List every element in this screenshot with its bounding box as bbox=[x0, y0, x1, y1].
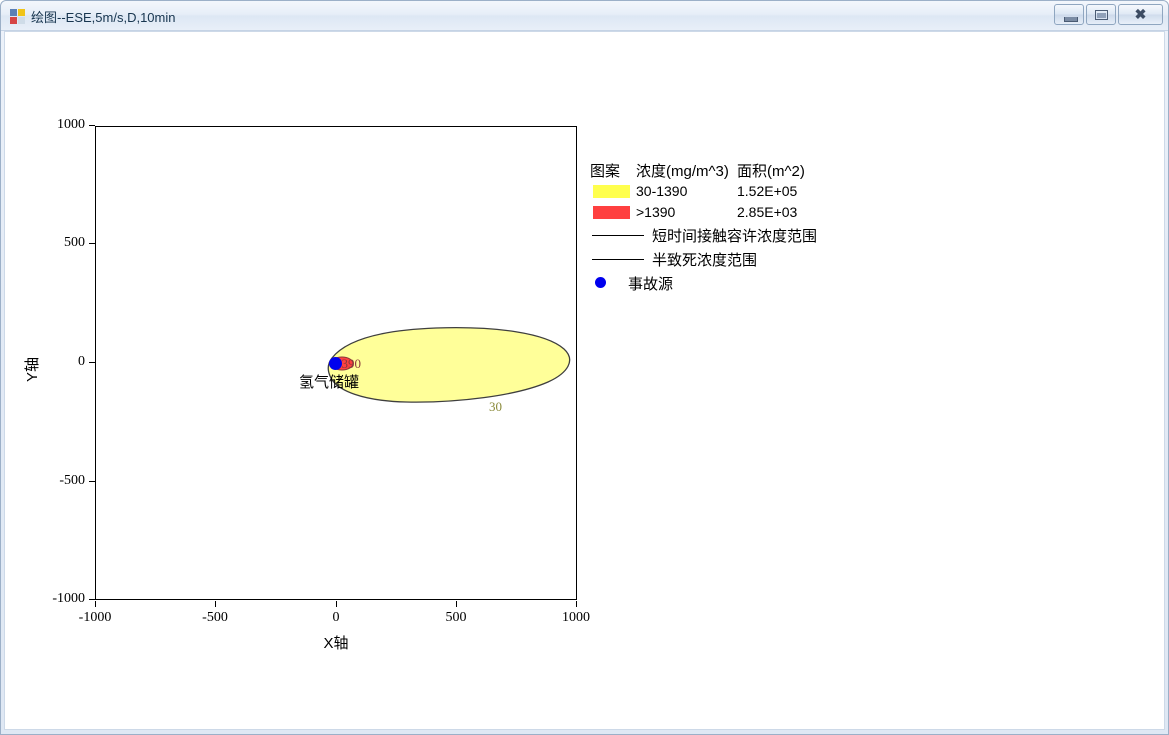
plot-frame: 1390 30 氢气储罐 bbox=[95, 126, 577, 600]
minimize-button[interactable] bbox=[1054, 4, 1084, 25]
x-tick-label-1000: 1000 bbox=[536, 610, 616, 626]
contour-label-30: 30 bbox=[489, 399, 502, 415]
close-icon: ✖ bbox=[1119, 5, 1162, 24]
window-controls: ✖ bbox=[1054, 4, 1163, 25]
minimize-icon bbox=[1064, 17, 1078, 22]
legend-line-icon-stel bbox=[592, 235, 644, 236]
legend-swatch-yellow bbox=[593, 185, 630, 198]
legend-line-icon-lc50 bbox=[592, 259, 644, 260]
legend-header-area: 面积(m^2) bbox=[737, 160, 805, 181]
x-tick-label-0: 0 bbox=[296, 610, 376, 626]
legend: 图案 浓度(mg/m^3) 面积(m^2) 30-1390 1.52E+05 >… bbox=[590, 160, 850, 296]
legend-row-stel: 短时间接触容许浓度范围 bbox=[590, 224, 850, 248]
legend-concentration-red: >1390 bbox=[636, 204, 675, 220]
legend-header-row: 图案 浓度(mg/m^3) 面积(m^2) bbox=[590, 160, 850, 182]
title-bar[interactable]: 绘图--ESE,5m/s,D,10min ✖ bbox=[1, 1, 1168, 31]
x-tick-mark-m1000 bbox=[95, 601, 96, 607]
legend-dot-icon-source bbox=[595, 277, 606, 288]
x-tick-label-m500: -500 bbox=[175, 610, 255, 626]
x-tick-mark-1000 bbox=[576, 601, 577, 607]
app-icon bbox=[10, 9, 25, 24]
y-tick-label-1000: 1000 bbox=[29, 117, 85, 133]
x-tick-mark-m500 bbox=[215, 601, 216, 607]
close-button[interactable]: ✖ bbox=[1118, 4, 1163, 25]
legend-label-lc50: 半致死浓度范围 bbox=[652, 249, 757, 270]
legend-swatch-red bbox=[593, 206, 630, 219]
x-axis-title: X轴 bbox=[296, 632, 376, 653]
maximize-button[interactable] bbox=[1086, 4, 1116, 25]
legend-row-lc50: 半致死浓度范围 bbox=[590, 248, 850, 272]
plot-canvas: 1390 30 氢气储罐 1000 500 0 -500 -1000 Y轴 bbox=[5, 32, 1165, 730]
legend-row-yellow: 30-1390 1.52E+05 bbox=[590, 182, 850, 203]
y-tick-mark-m1000 bbox=[89, 599, 95, 600]
y-tick-mark-500 bbox=[89, 243, 95, 244]
y-tick-label-500: 500 bbox=[29, 235, 85, 251]
window-title: 绘图--ESE,5m/s,D,10min bbox=[31, 7, 175, 26]
source-marker[interactable] bbox=[329, 357, 342, 370]
maximize-icon-inner bbox=[1097, 13, 1106, 18]
legend-header-pattern: 图案 bbox=[590, 160, 620, 181]
x-tick-mark-0 bbox=[336, 601, 337, 607]
y-tick-label-m1000: -1000 bbox=[29, 591, 85, 607]
client-area: 1390 30 氢气储罐 1000 500 0 -500 -1000 Y轴 bbox=[4, 31, 1165, 730]
legend-area-yellow: 1.52E+05 bbox=[737, 183, 797, 199]
y-tick-mark-0 bbox=[89, 362, 95, 363]
legend-label-stel: 短时间接触容许浓度范围 bbox=[652, 225, 817, 246]
x-tick-mark-500 bbox=[456, 601, 457, 607]
x-tick-label-500: 500 bbox=[416, 610, 496, 626]
y-tick-label-m500: -500 bbox=[29, 473, 85, 489]
legend-area-red: 2.85E+03 bbox=[737, 204, 797, 220]
legend-header-concentration: 浓度(mg/m^3) bbox=[636, 160, 729, 181]
source-label: 氢气储罐 bbox=[299, 371, 359, 392]
legend-row-source: 事故源 bbox=[590, 272, 850, 296]
legend-concentration-yellow: 30-1390 bbox=[636, 183, 687, 199]
x-tick-label-m1000: -1000 bbox=[55, 610, 135, 626]
y-tick-mark-m500 bbox=[89, 481, 95, 482]
contour-plume-30 bbox=[328, 328, 569, 402]
plot-window: 绘图--ESE,5m/s,D,10min ✖ bbox=[0, 0, 1169, 735]
legend-row-red: >1390 2.85E+03 bbox=[590, 203, 850, 224]
y-axis-title: Y轴 bbox=[21, 357, 42, 382]
legend-label-source: 事故源 bbox=[628, 273, 673, 294]
y-tick-mark-1000 bbox=[89, 125, 95, 126]
